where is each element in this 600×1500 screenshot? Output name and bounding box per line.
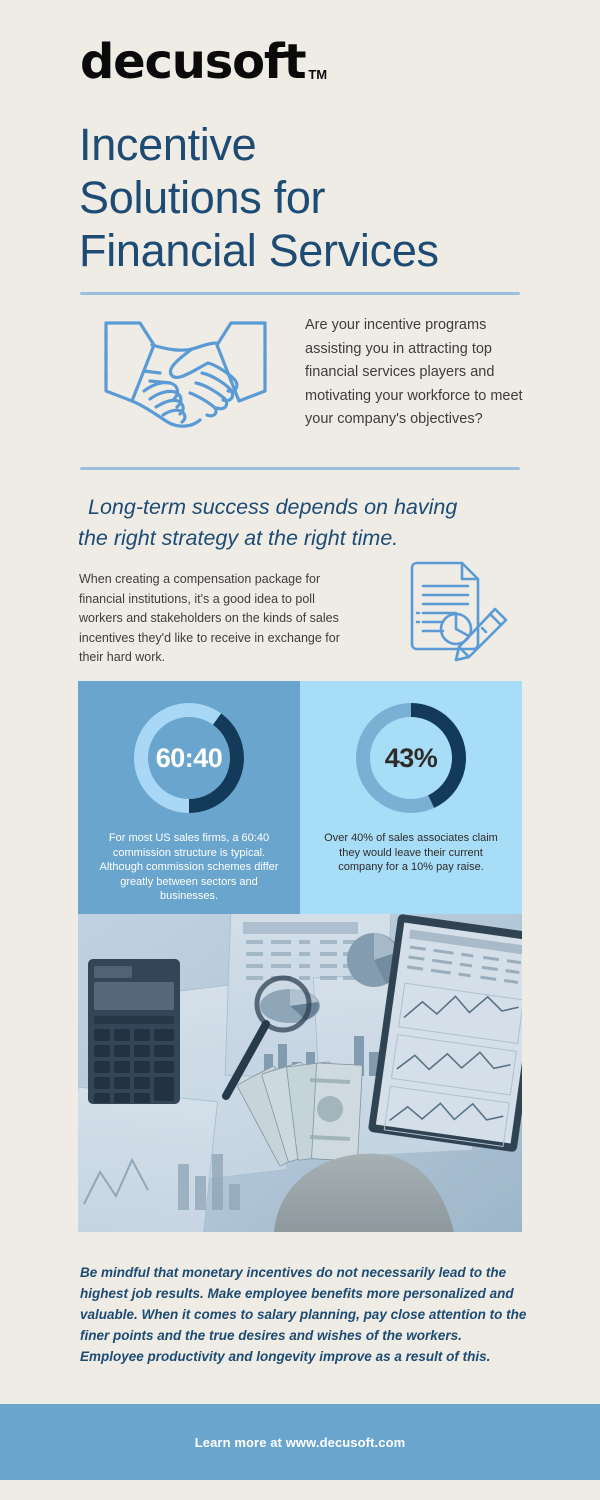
body-paragraph: When creating a compensation package for… [79, 570, 354, 668]
intro-paragraph: Are your incentive programs assisting yo… [305, 314, 530, 432]
section-headline: Long-term success depends on having the … [78, 492, 538, 554]
trademark-icon: TM [308, 67, 327, 82]
financial-desk-photo [78, 914, 522, 1232]
donut-chart-43-percent: 43% [350, 697, 472, 819]
page-title: Incentive Solutions for Financial Servic… [79, 118, 549, 277]
stat-panel-pay-raise: 43% Over 40% of sales associates claim t… [300, 681, 522, 914]
divider-top [80, 292, 520, 295]
donut-chart-60-40: 60:40 [128, 697, 250, 819]
footer-link[interactable]: Learn more at www.decusoft.com [195, 1435, 406, 1450]
infographic-page: decusoft TM Incentive Solutions for Fina… [0, 0, 600, 1500]
stat-caption-commission-split: For most US sales firms, a 60:40 commiss… [94, 831, 284, 904]
page-title-line-1: Incentive [79, 118, 549, 171]
stats-section: 60:40 For most US sales firms, a 60:40 c… [78, 681, 522, 914]
page-title-line-3: Financial Services [79, 224, 549, 277]
donut-value-60-40: 60:40 [128, 697, 250, 819]
page-title-line-2: Solutions for [79, 171, 549, 224]
logo-wordmark: decusoft [80, 38, 305, 86]
stat-panel-commission-split: 60:40 For most US sales firms, a 60:40 c… [78, 681, 300, 914]
stat-caption-pay-raise: Over 40% of sales associates claim they … [316, 831, 506, 875]
closing-paragraph: Be mindful that monetary incentives do n… [80, 1262, 528, 1367]
divider-middle [80, 467, 520, 470]
brand-logo: decusoft TM [80, 38, 327, 86]
footer-bar: Learn more at www.decusoft.com [0, 1404, 600, 1480]
section-headline-line-2: the right strategy at the right time. [78, 523, 538, 554]
donut-value-43-percent: 43% [350, 697, 472, 819]
section-headline-line-1: Long-term success depends on having [78, 492, 538, 523]
handshake-icon [88, 305, 283, 450]
document-pie-pencil-icon [398, 556, 514, 664]
